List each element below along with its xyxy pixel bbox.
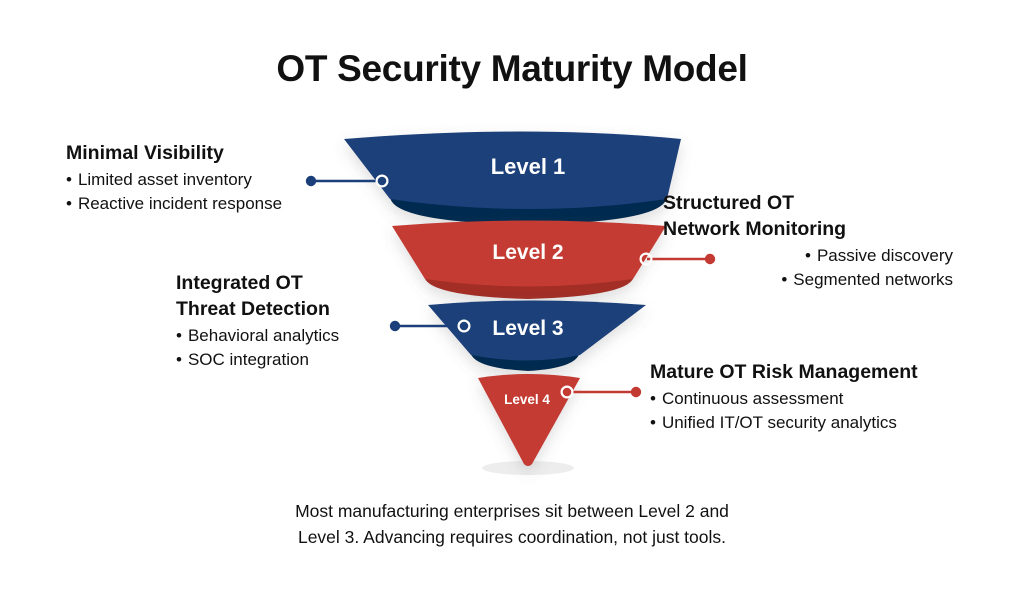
- annotation-level-3-heading-line-2: Threat Detection: [176, 298, 388, 321]
- bullet-icon: •: [66, 192, 72, 216]
- list-item: •Passive discovery: [663, 244, 953, 268]
- annotation-level-2-heading-line-1: Structured OT: [663, 192, 953, 215]
- bullet-icon: •: [66, 168, 72, 192]
- level-4-label: Level 4: [504, 392, 550, 407]
- bullet-text: Segmented networks: [793, 270, 953, 289]
- bullet-text: Behavioral analytics: [188, 326, 339, 345]
- level-2-label: Level 2: [492, 241, 563, 264]
- connector-level-3-dot: [390, 321, 400, 331]
- annotation-level-2-bullets: •Passive discovery •Segmented networks: [663, 244, 953, 292]
- bullet-text: Continuous assessment: [662, 389, 843, 408]
- annotation-level-1-bullets: •Limited asset inventory •Reactive incid…: [66, 168, 366, 216]
- bullet-icon: •: [176, 348, 182, 372]
- bullet-text: Unified IT/OT security analytics: [662, 413, 897, 432]
- list-item: •SOC integration: [176, 348, 388, 372]
- annotation-level-4-heading: Mature OT Risk Management: [650, 361, 990, 384]
- annotation-level-4-bullets: •Continuous assessment •Unified IT/OT se…: [650, 387, 990, 435]
- bullet-icon: •: [805, 244, 811, 268]
- bullet-text: Reactive incident response: [78, 194, 282, 213]
- connector-level-4-dot: [631, 387, 641, 397]
- bullet-icon: •: [650, 387, 656, 411]
- list-item: •Reactive incident response: [66, 192, 366, 216]
- annotation-level-3-heading-line-1: Integrated OT: [176, 272, 388, 295]
- list-item: •Segmented networks: [663, 268, 953, 292]
- caption-line-2: Level 3. Advancing requires coordination…: [0, 524, 1024, 550]
- annotation-level-1-heading: Minimal Visibility: [66, 142, 366, 165]
- list-item: •Unified IT/OT security analytics: [650, 411, 990, 435]
- annotation-level-3: Integrated OT Threat Detection •Behavior…: [176, 272, 388, 372]
- bullet-icon: •: [176, 324, 182, 348]
- bullet-icon: •: [650, 411, 656, 435]
- bullet-text: SOC integration: [188, 350, 309, 369]
- list-item: •Behavioral analytics: [176, 324, 388, 348]
- annotation-level-2: Structured OT Network Monitoring •Passiv…: [663, 192, 953, 292]
- annotation-level-2-heading-line-2: Network Monitoring: [663, 218, 953, 241]
- list-item: •Limited asset inventory: [66, 168, 366, 192]
- level-3-label: Level 3: [492, 317, 563, 340]
- list-item: •Continuous assessment: [650, 387, 990, 411]
- annotation-level-4: Mature OT Risk Management •Continuous as…: [650, 361, 990, 435]
- annotation-level-3-bullets: •Behavioral analytics •SOC integration: [176, 324, 388, 372]
- bullet-text: Limited asset inventory: [78, 170, 252, 189]
- caption-line-1: Most manufacturing enterprises sit betwe…: [0, 498, 1024, 524]
- bullet-text: Passive discovery: [817, 246, 953, 265]
- caption: Most manufacturing enterprises sit betwe…: [0, 498, 1024, 551]
- level-1-label: Level 1: [491, 154, 566, 179]
- annotation-level-1: Minimal Visibility •Limited asset invent…: [66, 142, 366, 216]
- bullet-icon: •: [781, 268, 787, 292]
